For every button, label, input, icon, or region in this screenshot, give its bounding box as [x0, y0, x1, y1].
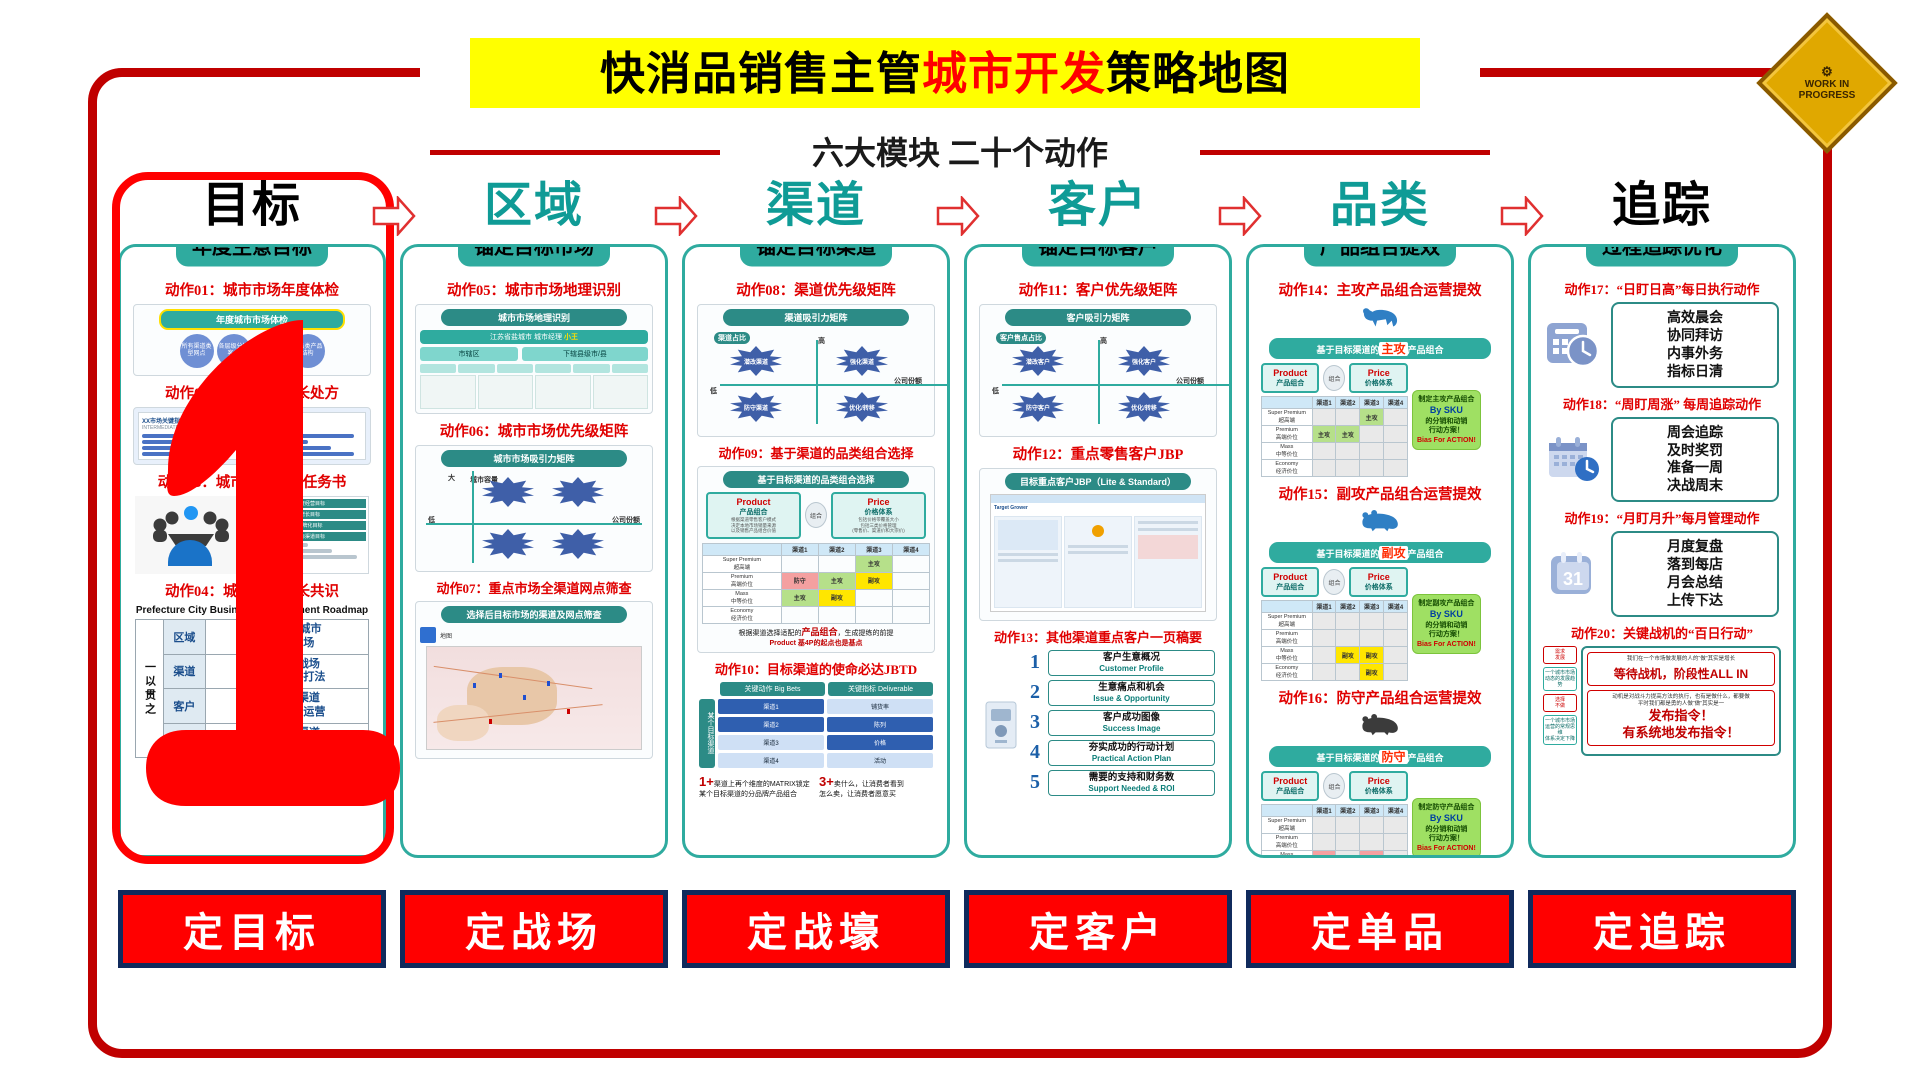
jbtd-cell: 渠道1 [718, 699, 824, 714]
card-caption: 城市市场地理识别 [441, 309, 628, 326]
panel-2: 锚定目标市场 动作05：城市市场地理识别 城市市场地理识别 江苏省盐城市 城市经… [400, 244, 668, 858]
roadmap-val-4: 每个重点渠道的重点品类/单品 [205, 723, 368, 758]
stage-column-1: 目标 年度生意目标 动作01：城市市场年度体检 年度城市市场体检 所有渠道类型网… [118, 168, 386, 868]
arrow-5 [1500, 196, 1544, 236]
list-cn: 生意痛点和机会 [1051, 683, 1212, 694]
line-4: 决战周末 [1617, 477, 1773, 495]
action-label-05: 动作05：城市市场地理识别 [411, 279, 657, 300]
callout-sku: By SKU [1417, 404, 1476, 416]
star-3: 防守渠道 [730, 392, 782, 422]
price-block: Price 价格体系 包括价格带覆盖大小包括三类价格管理(零售价、渠道价和大宗价… [831, 492, 926, 539]
task-book-sheet: 年度经营目标 增长目标 品牌化目标 目标渠道目标 [251, 496, 369, 574]
matrix-axis-lo: 低 [710, 386, 717, 396]
callout-l2: 的分销和动销 [1417, 417, 1476, 426]
banner-6[interactable]: 定追踪 [1528, 890, 1796, 968]
callout-l1: 制定主攻产品组合 [1417, 395, 1476, 404]
kpi-left-title: XX市场关键指标 [142, 416, 246, 425]
combine-badge: 组合 [805, 502, 827, 528]
th-4: 渠道4 [1384, 397, 1408, 409]
action-label-10: 动作10：目标渠道的使命必达JBTD [693, 659, 939, 678]
action-callout-1: 制定主攻产品组合 By SKU 的分销和动销 行动方案！ Bias For AC… [1412, 390, 1481, 450]
table-row: Economy经济价位副攻 [1262, 664, 1408, 681]
product-title-cn: 产品组合 [1265, 378, 1315, 388]
panel-title-1: 年度生意目标 [176, 244, 328, 267]
arrow-3 [936, 196, 980, 236]
table-row: Mass中等价位 [1262, 443, 1408, 460]
slogan-1: 等待战机，阶段性ALL IN [1591, 665, 1771, 682]
star-2: 强化客户 [1118, 346, 1170, 376]
gear-icon: ⚙ [1821, 65, 1833, 78]
defend-table: 渠道1渠道2渠道3渠道4 Super Premium超高端 Premium高端价… [1261, 804, 1408, 858]
star-4: 优化/转移 [836, 392, 888, 422]
panel-3: 锚定目标渠道 动作08：渠道优先级矩阵 渠道吸引力矩阵 渠道占比 高 低 公司份… [682, 244, 950, 858]
svg-text:31: 31 [1563, 569, 1583, 589]
stage-column-5: 品类 产品组合提效 动作14：主攻产品组合运营提效 基于目标渠道的主攻产品组合 … [1246, 168, 1514, 868]
hundred-day-card: 我们在一个市场做发展的人的“做”其实是增长 等待战机，阶段性ALL IN 动机是… [1581, 646, 1781, 756]
action-label-06: 动作06：城市市场优先级矩阵 [411, 420, 657, 441]
geo-role: 城市经理 [534, 334, 562, 341]
one-pager-icon [981, 650, 1021, 800]
banner-2[interactable]: 定战场 [400, 890, 668, 968]
matrix-axis-hi: 高 [1100, 336, 1107, 346]
stage-label-3: 渠道 [682, 168, 950, 244]
pill-4: 各品类产品结构 [291, 334, 325, 368]
line-4: 指标日清 [1617, 363, 1773, 381]
tracking-box-daily: 高效晨会 协同拜访 内事外务 指标日清 [1611, 302, 1779, 388]
action-label-18: 动作18：“周盯周涨” 每周追踪动作 [1539, 394, 1785, 413]
title-part-1: 快消品销售主管 [600, 48, 922, 99]
list-cn: 客户生意概况 [1051, 653, 1212, 664]
roadmap-side-label: 一以贯之 [136, 620, 164, 758]
callout-l1: 制定副攻产品组合 [1417, 599, 1476, 608]
callout-l3: 行动方案！ [1417, 426, 1476, 435]
action-label-17: 动作17：“日盯日高”每日执行动作 [1539, 279, 1785, 298]
mix-caption-1: 基于目标渠道的主攻产品组合 [1269, 338, 1490, 359]
matrix-axis-hi: 大 [448, 473, 455, 483]
kpi-right-tag: BASIC [259, 425, 363, 431]
matrix-y-label: 渠道占比 [714, 332, 750, 344]
table-row: Mass中等价位主攻副攻 [703, 589, 930, 606]
tracking-item-daily: 高效晨会 协同拜访 内事外务 指标日清 [1545, 302, 1779, 388]
stage-label-6: 追踪 [1528, 168, 1796, 244]
th-4: 渠道4 [892, 543, 929, 555]
banner-4[interactable]: 定客户 [964, 890, 1232, 968]
panel-title-2: 锚定目标市场 [458, 244, 610, 267]
callout-l1: 制定防守产品组合 [1417, 803, 1476, 812]
card-caption: 年度城市市场体检 [159, 309, 346, 330]
action-label-09: 动作09：基于渠道的品类组合选择 [693, 443, 939, 462]
table-row: Premium高端价位 [1262, 834, 1408, 851]
roadmap-table: 一以贯之 区域 每个区域/城市的主攻战场 渠道 每个主攻战场的渠道策略打法 客户… [135, 619, 369, 758]
callout-bfa: Bias For ACTION! [1417, 844, 1476, 853]
star-3: 防守客户 [1012, 392, 1064, 422]
th-3: 渠道3 [855, 543, 892, 555]
th-1: 渠道1 [781, 543, 818, 555]
title-part-3: 策略地图 [1106, 48, 1290, 99]
product-block: Product 产品组合 根据渠道零售客户模式决定本地市场销量来源以及销售产品组… [706, 492, 801, 539]
action-label-13: 动作13：其他渠道重点客户一页稿要 [975, 627, 1221, 646]
roadmap-key-4: 品类 [163, 723, 205, 758]
list-cn: 需要的支持和财务数 [1051, 773, 1212, 784]
list-number: 4 [1027, 741, 1043, 764]
hundred-day-bottom: 动机是对战斗力提高方法的执行，也有是做什么，都要做 平时我们都是勇的人做“做”其… [1587, 690, 1775, 746]
bear-icon-1 [1257, 508, 1503, 539]
side-tag-3: 选择不做 [1543, 694, 1577, 712]
card-caption: 目标重点客户JBP（Lite & Standard） [1005, 473, 1192, 490]
pill-2: 各层级分销客户 [217, 334, 251, 368]
arrow-1 [372, 196, 416, 236]
main-attack-table: 渠道1渠道2渠道3渠道4 Super Premium超高端主攻 Premium高… [1261, 396, 1408, 477]
action-label-01: 动作01：城市市场年度体检 [129, 279, 375, 300]
card-caption: 渠道吸引力矩阵 [723, 309, 910, 326]
list-cn: 客户成功图像 [1051, 713, 1212, 724]
tracking-item-monthly: 31 月度复盘 落到每店 月会总结 上传下达 [1545, 531, 1779, 617]
bull-icon [1257, 304, 1503, 335]
jbtd-cell: 渠道4 [718, 753, 824, 768]
card-market-priority-matrix: 城市市场吸引力矩阵 大 城市容量 低 公司份额 [415, 445, 653, 572]
action-label-11: 动作11：客户优先级矩阵 [975, 279, 1221, 300]
table-row: 渠道1渠道2渠道3渠道4 [1262, 397, 1408, 409]
line-2: 及时奖罚 [1617, 442, 1773, 460]
panel-1: 年度生意目标 动作01：城市市场年度体检 年度城市市场体检 所有渠道类型网点 各… [118, 244, 386, 858]
product-title-cn: 产品组合 [710, 507, 797, 517]
table-row: Economy经济价位 [1262, 460, 1408, 477]
sub-attack-table: 渠道1渠道2渠道3渠道4 Super Premium超高端 Premium高端价… [1261, 600, 1408, 681]
card-growth-prescription: XX市场关键指标 INTERMEDIATE XX市场关键指标 BASIC [133, 407, 371, 465]
jbtd-foot-left: 1+渠道上再个维度的MATRIX锁定某个目标渠道的分品牌产品组合 [699, 773, 813, 800]
callout-l3: 行动方案！ [1417, 630, 1476, 639]
list-en: Support Needed & ROI [1051, 784, 1212, 793]
banner-3[interactable]: 定战壕 [682, 890, 950, 968]
action-label-04: 动作04：城市生意增长共识 [129, 580, 375, 601]
list-en: Practical Action Plan [1051, 754, 1212, 763]
stage-label-4: 客户 [964, 168, 1232, 244]
hundred-day-top: 我们在一个市场做发展的人的“做”其实是增长 等待战机，阶段性ALL IN [1587, 652, 1775, 686]
table-row: Super Premium超高端主攻 [703, 555, 930, 572]
table-row: 渠道1渠道2渠道3渠道4 [1262, 601, 1408, 613]
market-matrix: 大 城市容量 低 公司份额 [426, 471, 642, 563]
geo-district: 市辖区 [420, 347, 518, 361]
list-item: 4夯实成功的行动计划Practical Action Plan [1027, 740, 1215, 766]
action-label-15: 动作15：副攻产品组合运营提效 [1257, 483, 1503, 504]
list-item: 1客户生意概况Customer Profile [1027, 650, 1215, 676]
table-row: Premium高端价位主攻主攻 [1262, 426, 1408, 443]
stage-column-4: 客户 锚定目标客户 动作11：客户优先级矩阵 客户吸引力矩阵 客户售点占比 高 … [964, 168, 1232, 868]
side-tag-2: 一个城市市场动态的发展趋势 [1543, 667, 1577, 691]
bottom-banners: 定目标 定战场 定战壕 定客户 定单品 定追踪 [118, 890, 1808, 982]
list-en: Issue & Opportunity [1051, 694, 1212, 703]
card-jbp: 目标重点客户JBP（Lite & Standard） Target Grower… [979, 468, 1217, 621]
callout-sku: By SKU [1417, 812, 1476, 824]
title-rule-left [430, 150, 720, 155]
panel-6: 过程追踪优化 动作17：“日盯日高”每日执行动作 [1528, 244, 1796, 858]
jbp-document-image: Target Grower A Joint Business Plan / ca… [990, 494, 1206, 612]
callout-l3: 行动方案！ [1417, 834, 1476, 843]
mid-note-2: 平时我们都是勇的人做“做”其实是一 [1591, 701, 1771, 708]
callout-bfa: Bias For ACTION! [1417, 436, 1476, 445]
screening-map-image [426, 646, 642, 750]
geo-counties: 下辖县级市/县 [522, 347, 648, 361]
product-title-en: Product [1265, 368, 1315, 378]
jbtd-cell: 渠道2 [718, 717, 824, 732]
table-row: Premium高端价位防守主攻副攻 [703, 572, 930, 589]
table-row: Super Premium超高端 [1262, 817, 1408, 834]
table-row: Mass中等价位副攻副攻 [1262, 647, 1408, 664]
title-part-2: 城市开发 [922, 48, 1106, 99]
badge-line-1: WORK IN [1805, 79, 1849, 91]
jbtd-foot-right: 3+卖什么，让消费者看到怎么卖，让消费者愿意买 [819, 773, 933, 800]
top-note: 我们在一个市场做发展的人的“做”其实是增长 [1591, 656, 1771, 663]
jbp-doc-title: Target Grower [991, 503, 1205, 513]
jbtd-side-label: 某个目标渠道 [699, 699, 715, 768]
table-row: Premium高端价位 [1262, 630, 1408, 647]
price-title-en: Price [1353, 368, 1403, 378]
table-row: 渠道 每个主攻战场的渠道策略打法 [136, 654, 369, 689]
table-row: Super Premium超高端 [1262, 613, 1408, 630]
callout-sku: By SKU [1417, 608, 1476, 620]
action-label-08: 动作08：渠道优先级矩阵 [693, 279, 939, 300]
card-caption: 客户吸引力矩阵 [1005, 309, 1192, 326]
callout-l2: 的分销和动销 [1417, 621, 1476, 630]
kpi-left-tag: INTERMEDIATE [142, 425, 246, 431]
roadmap-val-2: 每个主攻战场的渠道策略打法 [205, 654, 368, 689]
calendar-31-icon: 31 [1545, 548, 1603, 600]
th-2: 渠道2 [1336, 397, 1360, 409]
mix-caption-3: 基于目标渠道的防守产品组合 [1269, 746, 1490, 767]
roadmap-key-1: 区域 [163, 620, 205, 655]
jbtd-head-1: 关键动作 Big Bets [720, 682, 825, 696]
table-row: Economy经济价位 [703, 606, 930, 623]
list-en: Success Image [1051, 724, 1212, 733]
stage-label-1: 目标 [118, 168, 386, 244]
list-item: 2生意痛点和机会Issue & Opportunity [1027, 680, 1215, 706]
action-label-07: 动作07：重点市场全渠道网点筛查 [411, 578, 657, 597]
action-label-20: 动作20：关键战机的“百日行动” [1539, 623, 1785, 642]
jbtd-block: 关键动作 Big Bets 关键指标 Deliverable 某个目标渠道 渠道… [699, 682, 933, 768]
list-item: 5需要的支持和财务数Support Needed & ROI [1027, 770, 1215, 796]
card-caption: 基于目标渠道的品类组合选择 [723, 471, 910, 488]
line-2: 落到每店 [1617, 556, 1773, 574]
table-row: 品类 每个重点渠道的重点品类/单品 [136, 723, 369, 758]
title-rule-right [1200, 150, 1490, 155]
action-label-02: 动作02：城市生意增长处方 [129, 382, 375, 403]
channel-matrix: 渠道占比 高 低 公司份额 潜改渠道 强化渠道 防守渠道 优化/转移 [708, 330, 924, 428]
matrix-axis-lo: 低 [992, 386, 999, 396]
hundred-day-block: 需求发展 一个城市市场动态的发展趋势 选择不做 一个城市市场运营的常规思维体系决… [1543, 646, 1781, 756]
card-category-mix: 基于目标渠道的品类组合选择 Product 产品组合 根据渠道零售客户模式决定本… [697, 466, 935, 653]
tracking-box-weekly: 周会追踪 及时奖罚 准备一周 决战周末 [1611, 417, 1779, 503]
price-desc: 包括价格带覆盖大小包括三类价格管理(零售价、渠道价和大宗价) [835, 517, 922, 534]
callout-bfa: Bias For ACTION! [1417, 640, 1476, 649]
product-desc: 根据渠道零售客户模式决定本地市场销量来源以及销售产品组合价值 [710, 517, 797, 534]
category-matrix-table: 渠道1 渠道2 渠道3 渠道4 Super Premium超高端主攻 Premi… [702, 543, 930, 624]
card-caption: 城市市场吸引力矩阵 [441, 450, 628, 467]
panel-title-5: 产品组合提效 [1304, 244, 1456, 267]
jbtd-cell: 渠道3 [718, 735, 824, 750]
star-1: 潜改渠道 [730, 346, 782, 376]
panel-title-6: 过程追踪优化 [1586, 244, 1738, 267]
th-2: 渠道2 [818, 543, 855, 555]
matrix-y-label: 客户售点占比 [996, 332, 1046, 344]
list-number: 3 [1027, 711, 1043, 734]
th-1: 渠道1 [1312, 397, 1336, 409]
slogan-3: 有系统地发布指令！ [1591, 725, 1771, 742]
jbtd-cell: 陈列 [827, 717, 933, 732]
table-row: 客户 每个重点渠道的重点客户运营 [136, 689, 369, 724]
table-row: Super Premium超高端主攻 [1262, 409, 1408, 426]
calendar-clock-icon [1545, 319, 1603, 371]
mix-caption-2: 基于目标渠道的副攻产品组合 [1269, 542, 1490, 563]
roadmap-val-3: 每个重点渠道的重点客户运营 [205, 689, 368, 724]
callout-l2: 的分销和动销 [1417, 825, 1476, 834]
line-1: 周会追踪 [1617, 424, 1773, 442]
list-cn: 夯实成功的行动计划 [1051, 743, 1212, 754]
table-row: 一以贯之 区域 每个区域/城市的主攻战场 [136, 620, 369, 655]
meeting-illustration [135, 496, 247, 574]
action-label-19: 动作19：“月盯月升”每月管理动作 [1539, 508, 1785, 527]
roadmap-key-3: 客户 [163, 689, 205, 724]
list-number: 1 [1027, 651, 1043, 674]
th-3: 渠道3 [1360, 397, 1384, 409]
category-footnote: 根据渠道选择适配的产品组合，生成提练的前提 Product 基4P的起点也是基点 [702, 627, 930, 648]
star-2: 强化渠道 [836, 346, 888, 376]
arrow-2 [654, 196, 698, 236]
panel-4: 锚定目标客户 动作11：客户优先级矩阵 客户吸引力矩阵 客户售点占比 高 低 公… [964, 244, 1232, 858]
price-title-en: Price [835, 497, 922, 507]
badge-line-2: PROGRESS [1799, 90, 1856, 102]
table-row: Mass中等价位防守防守 [1262, 851, 1408, 859]
slogan-2: 发布指令！ [1591, 708, 1771, 725]
kpi-right-title: XX市场关键指标 [259, 416, 363, 425]
jbtd-cell: 活动 [827, 753, 933, 768]
side-tag-1: 需求发展 [1543, 646, 1577, 664]
jbtd-cell: 价格 [827, 735, 933, 750]
side-tag-4: 一个城市市场运营的常规思维体系决定下降 [1543, 715, 1577, 745]
matrix-axis-hi: 高 [818, 336, 825, 346]
geo-owner: 小王 [564, 334, 578, 341]
jbp-doc-sub: A Joint Business Plan / category / Summa… [991, 611, 1205, 612]
list-en: Customer Profile [1051, 664, 1212, 673]
line-4: 上传下达 [1617, 592, 1773, 610]
card-customer-priority-matrix: 客户吸引力矩阵 客户售点占比 高 低 公司份额 潜改客户 强化客户 防守客户 优… [979, 304, 1217, 437]
line-3: 准备一周 [1617, 459, 1773, 477]
tracking-box-monthly: 月度复盘 落到每店 月会总结 上传下达 [1611, 531, 1779, 617]
bear-icon-2 [1257, 712, 1503, 743]
panel-title-3: 锚定目标渠道 [740, 244, 892, 267]
panel-5: 产品组合提效 动作14：主攻产品组合运营提效 基于目标渠道的主攻产品组合 Pro… [1246, 244, 1514, 858]
action-label-14: 动作14：主攻产品组合运营提效 [1257, 279, 1503, 300]
action-callout-3: 制定防守产品组合 By SKU 的分销和动销 行动方案！ Bias For AC… [1412, 798, 1481, 858]
action-label-12: 动作12：重点零售客户JBP [975, 443, 1221, 464]
price-title-cn: 价格体系 [1353, 378, 1403, 388]
card-channel-priority-matrix: 渠道吸引力矩阵 渠道占比 高 低 公司份额 潜改渠道 强化渠道 防守渠道 优化/… [697, 304, 935, 437]
card-caption: 选择后目标市场的渠道及网点筛查 [441, 606, 628, 623]
pill-1: 所有渠道类型网点 [180, 334, 214, 368]
map-label: 地图 [440, 631, 452, 640]
stage-column-2: 区域 锚定目标市场 动作05：城市市场地理识别 城市市场地理识别 江苏省盐城市 … [400, 168, 668, 868]
action-callout-2: 制定副攻产品组合 By SKU 的分销和动销 行动方案！ Bias For AC… [1412, 594, 1481, 654]
list-number: 2 [1027, 681, 1043, 704]
jbtd-head-2: 关键指标 Deliverable [828, 682, 933, 696]
infographic-root: 快消品销售主管城市开发策略地图 六大模块 二十个动作 ⚙ WORK IN PRO… [0, 0, 1920, 1080]
star-4: 优化/转移 [1118, 392, 1170, 422]
pill-3: 各个时段终端网点 [254, 334, 288, 368]
stage-column-3: 渠道 锚定目标渠道 动作08：渠道优先级矩阵 渠道吸引力矩阵 渠道占比 高 低 … [682, 168, 950, 868]
line-3: 月会总结 [1617, 574, 1773, 592]
card-geo-identification: 城市市场地理识别 江苏省盐城市 城市经理 小王 市辖区 下辖县级市/县 [415, 304, 653, 414]
line-1: 高效晨会 [1617, 309, 1773, 327]
jbtd-cell: 铺货率 [827, 699, 933, 714]
list-item: 3客户成功图像Success Image [1027, 710, 1215, 736]
card-annual-checkup: 年度城市市场体检 所有渠道类型网点 各层级分销客户 各个时段终端网点 各品类产品… [133, 304, 371, 376]
line-1: 月度复盘 [1617, 538, 1773, 556]
line-3: 内事外务 [1617, 345, 1773, 363]
list-number: 5 [1027, 771, 1043, 794]
stage-label-2: 区域 [400, 168, 668, 244]
table-row: 渠道1渠道2渠道3渠道4 [1262, 805, 1408, 817]
panel-title-4: 锚定目标客户 [1022, 244, 1174, 267]
action-label-03: 动作03：城市经营年度任务书 [129, 471, 375, 492]
roadmap-val-1: 每个区域/城市的主攻战场 [205, 620, 368, 655]
customer-matrix: 客户售点占比 高 低 公司份额 潜改客户 强化客户 防守客户 优化/转移 [990, 330, 1206, 428]
stage-label-5: 品类 [1246, 168, 1514, 244]
line-2: 协同拜访 [1617, 327, 1773, 345]
roadmap-table-wrap: Prefecture City Business Development Roa… [135, 605, 369, 758]
calendar-week-icon [1545, 433, 1603, 485]
arrow-4 [1218, 196, 1262, 236]
banner-1[interactable]: 定目标 [118, 890, 386, 968]
tracking-item-weekly: 周会追踪 及时奖罚 准备一周 决战周末 [1545, 417, 1779, 503]
banner-5[interactable]: 定单品 [1246, 890, 1514, 968]
roadmap-caption: Prefecture City Business Development Roa… [135, 605, 369, 616]
product-title-en: Product [710, 497, 797, 507]
geo-city: 江苏省盐城市 [490, 334, 532, 341]
card-network-screening: 选择后目标市场的渠道及网点筛查 地图 [415, 601, 653, 759]
combine-badge: 组合 [1323, 365, 1345, 391]
action-label-16: 动作16：防守产品组合运营提效 [1257, 687, 1503, 708]
table-row: 渠道1 渠道2 渠道3 渠道4 [703, 543, 930, 555]
stage-column-6: 追踪 过程追踪优化 动作17：“日盯日高”每日执行动作 [1528, 168, 1796, 868]
main-title-band: 快消品销售主管城市开发策略地图 [470, 38, 1420, 108]
work-in-progress-badge: ⚙ WORK IN PROGRESS [1772, 28, 1882, 138]
star-1: 潜改客户 [1012, 346, 1064, 376]
roadmap-key-2: 渠道 [163, 654, 205, 689]
price-title-cn: 价格体系 [835, 507, 922, 517]
